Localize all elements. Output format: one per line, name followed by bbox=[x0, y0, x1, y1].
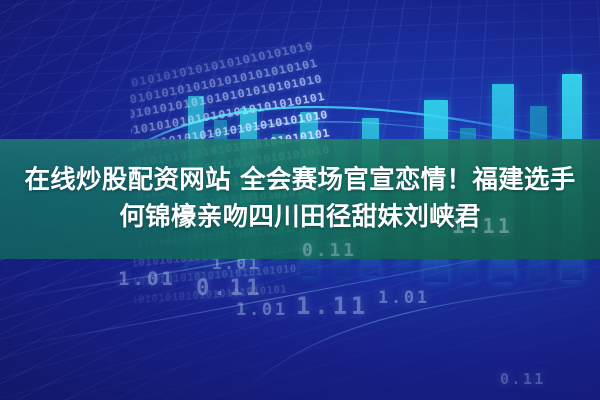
banner-image: 1010101010101010101010101001010101010101… bbox=[0, 0, 600, 400]
caption-line-2: 何锦檺亲吻四川田径甜妹刘峡君 bbox=[119, 200, 480, 235]
caption-line-1: 在线炒股配资网站 全会赛场官宣恋情！福建选手 bbox=[24, 163, 575, 198]
caption-text-block: 在线炒股配资网站 全会赛场官宣恋情！福建选手 何锦檺亲吻四川田径甜妹刘峡君 bbox=[0, 139, 600, 259]
